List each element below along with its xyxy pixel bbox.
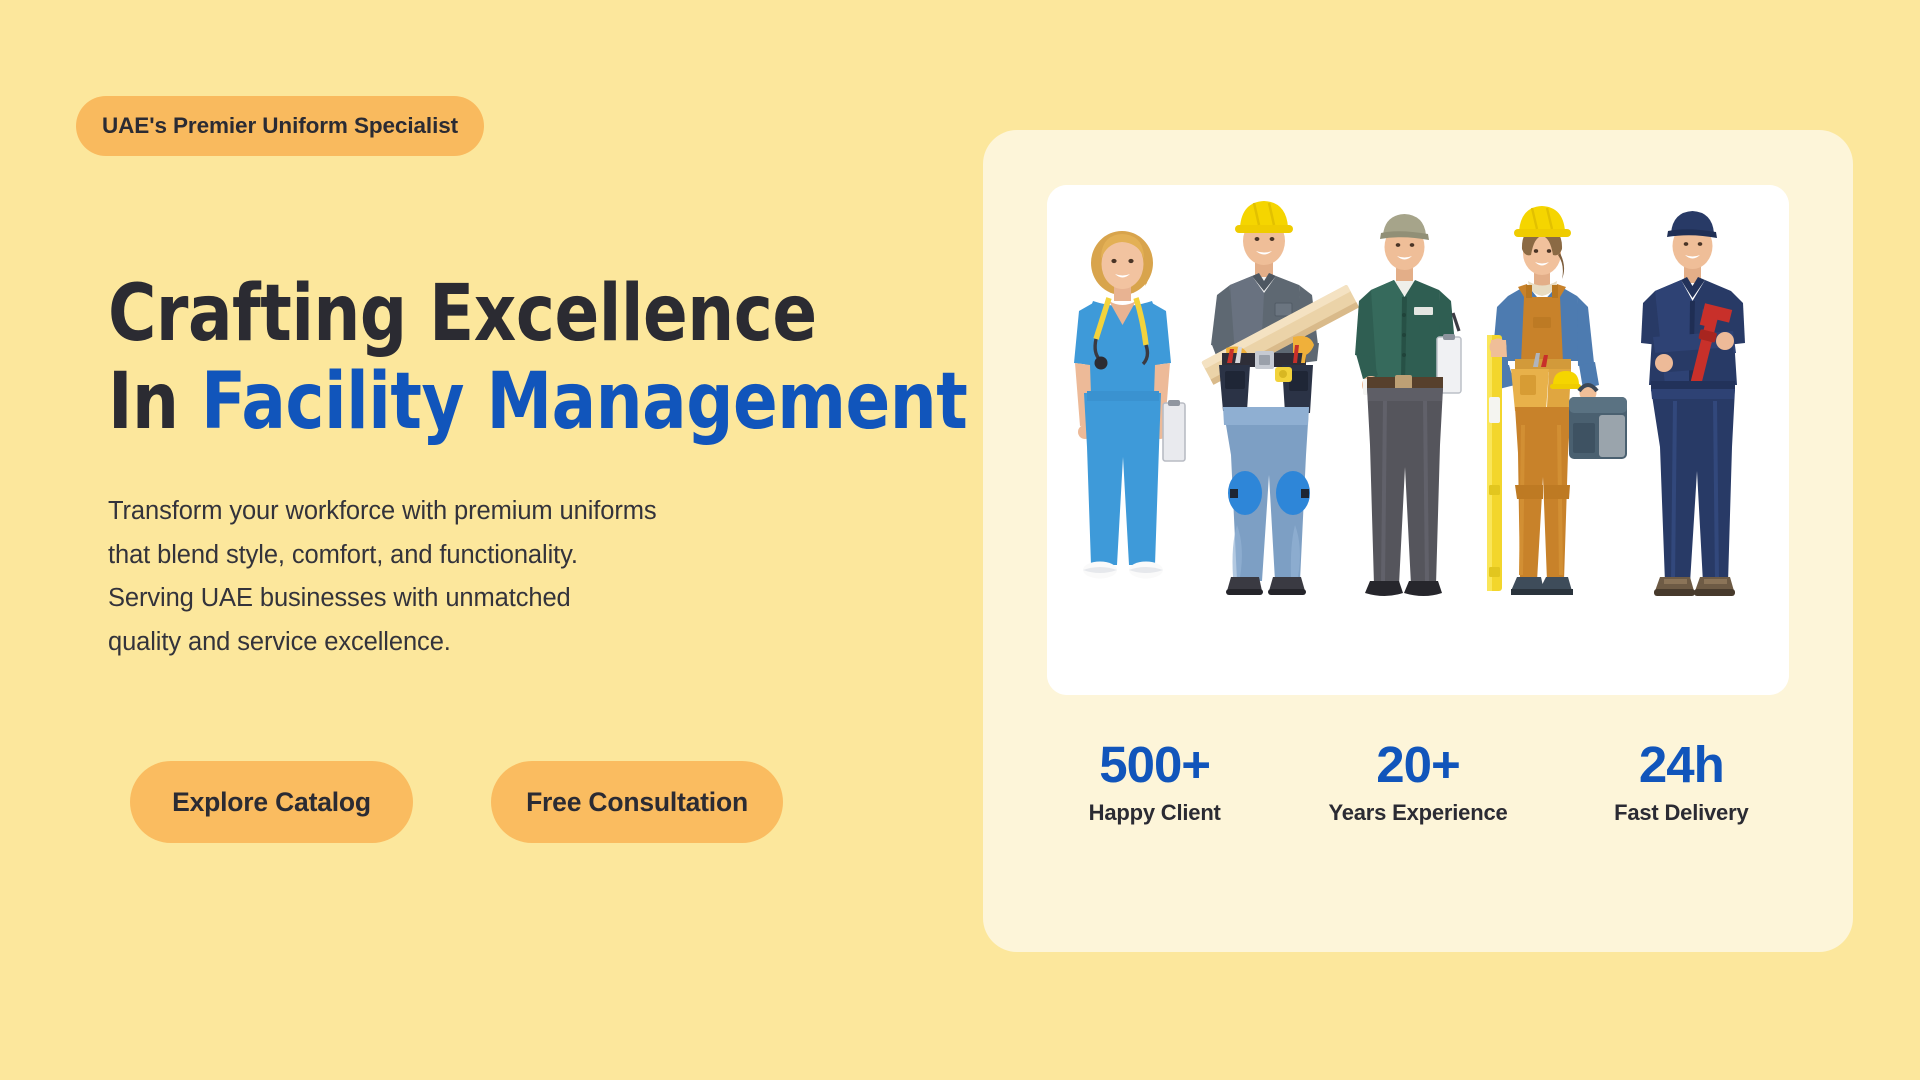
stat-label: Years Experience	[1286, 800, 1549, 826]
page-title: Crafting Excellence In Facility Manageme…	[108, 272, 968, 444]
stat-value: 20+	[1286, 738, 1549, 792]
stat-value: 500+	[1023, 738, 1286, 792]
showcase-card: 500+ Happy Client 20+ Years Experience 2…	[983, 130, 1853, 952]
hero-description-line-2: that blend style, comfort, and functiona…	[108, 534, 908, 578]
stat-label: Fast Delivery	[1550, 800, 1813, 826]
hero-section: UAE's Premier Uniform Specialist Craftin…	[0, 0, 1920, 1080]
explore-catalog-button[interactable]: Explore Catalog	[130, 761, 413, 843]
headline-line-2-prefix: In	[108, 357, 201, 447]
headline-line-2: In Facility Management	[108, 360, 916, 444]
image-frame	[1047, 185, 1789, 695]
status-badge: UAE's Premier Uniform Specialist	[76, 96, 484, 156]
cta-button-row: Explore Catalog Free Consultation	[130, 761, 783, 843]
headline-line-1: Crafting Excellence	[108, 272, 916, 356]
stat-fast-delivery: 24h Fast Delivery	[1550, 738, 1813, 826]
status-badge-label: UAE's Premier Uniform Specialist	[102, 113, 458, 139]
headline-line-2-accent: Facility Management	[201, 357, 967, 447]
stats-row: 500+ Happy Client 20+ Years Experience 2…	[1023, 738, 1813, 826]
free-consultation-button[interactable]: Free Consultation	[491, 761, 783, 843]
stat-years-experience: 20+ Years Experience	[1286, 738, 1549, 826]
stat-value: 24h	[1550, 738, 1813, 792]
hero-description-line-1: Transform your workforce with premium un…	[108, 490, 908, 534]
hero-description-line-3: Serving UAE businesses with unmatched	[108, 577, 908, 621]
uniformed-workers-image	[1047, 185, 1789, 695]
stat-happy-client: 500+ Happy Client	[1023, 738, 1286, 826]
stat-label: Happy Client	[1023, 800, 1286, 826]
hero-description-line-4: quality and service excellence.	[108, 621, 908, 665]
hero-description: Transform your workforce with premium un…	[108, 490, 908, 664]
hero-text-column: UAE's Premier Uniform Specialist Craftin…	[0, 0, 980, 1080]
